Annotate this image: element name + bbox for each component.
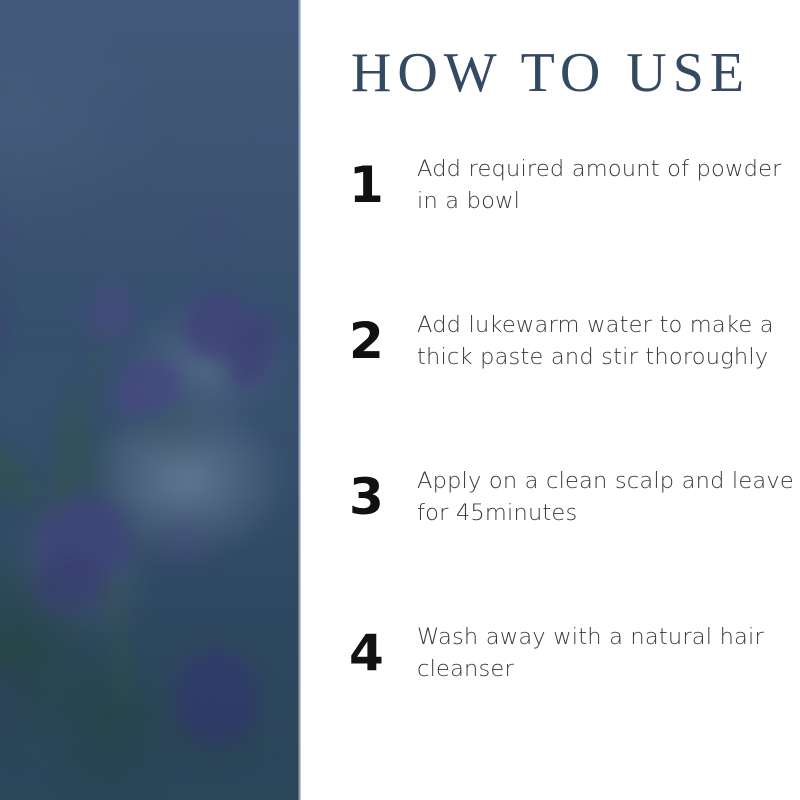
step-text: Add lukewarm water to make a thick paste… [417,308,800,374]
photo-blue-wash-overlay [0,0,301,800]
steps-list: 1 Add required amount of powder in a bow… [301,152,800,776]
how-to-use-poster: HOW TO USE 1 Add required amount of powd… [0,0,800,800]
step-number: 4 [349,620,417,678]
step-text: Apply on a clean scalp and leave for 45m… [417,464,800,530]
step-text: Add required amount of powder in a bowl [417,152,800,218]
step-number: 3 [349,464,417,522]
product-photo-panel [0,0,301,800]
step-number: 1 [349,152,417,210]
list-item: 2 Add lukewarm water to make a thick pas… [301,308,800,464]
step-number: 2 [349,308,417,366]
list-item: 1 Add required amount of powder in a bow… [301,152,800,308]
instructions-panel: HOW TO USE 1 Add required amount of powd… [301,0,800,800]
list-item: 3 Apply on a clean scalp and leave for 4… [301,464,800,620]
page-title: HOW TO USE [301,0,800,103]
step-text: Wash away with a natural hair cleanser [417,620,800,686]
list-item: 4 Wash away with a natural hair cleanser [301,620,800,776]
